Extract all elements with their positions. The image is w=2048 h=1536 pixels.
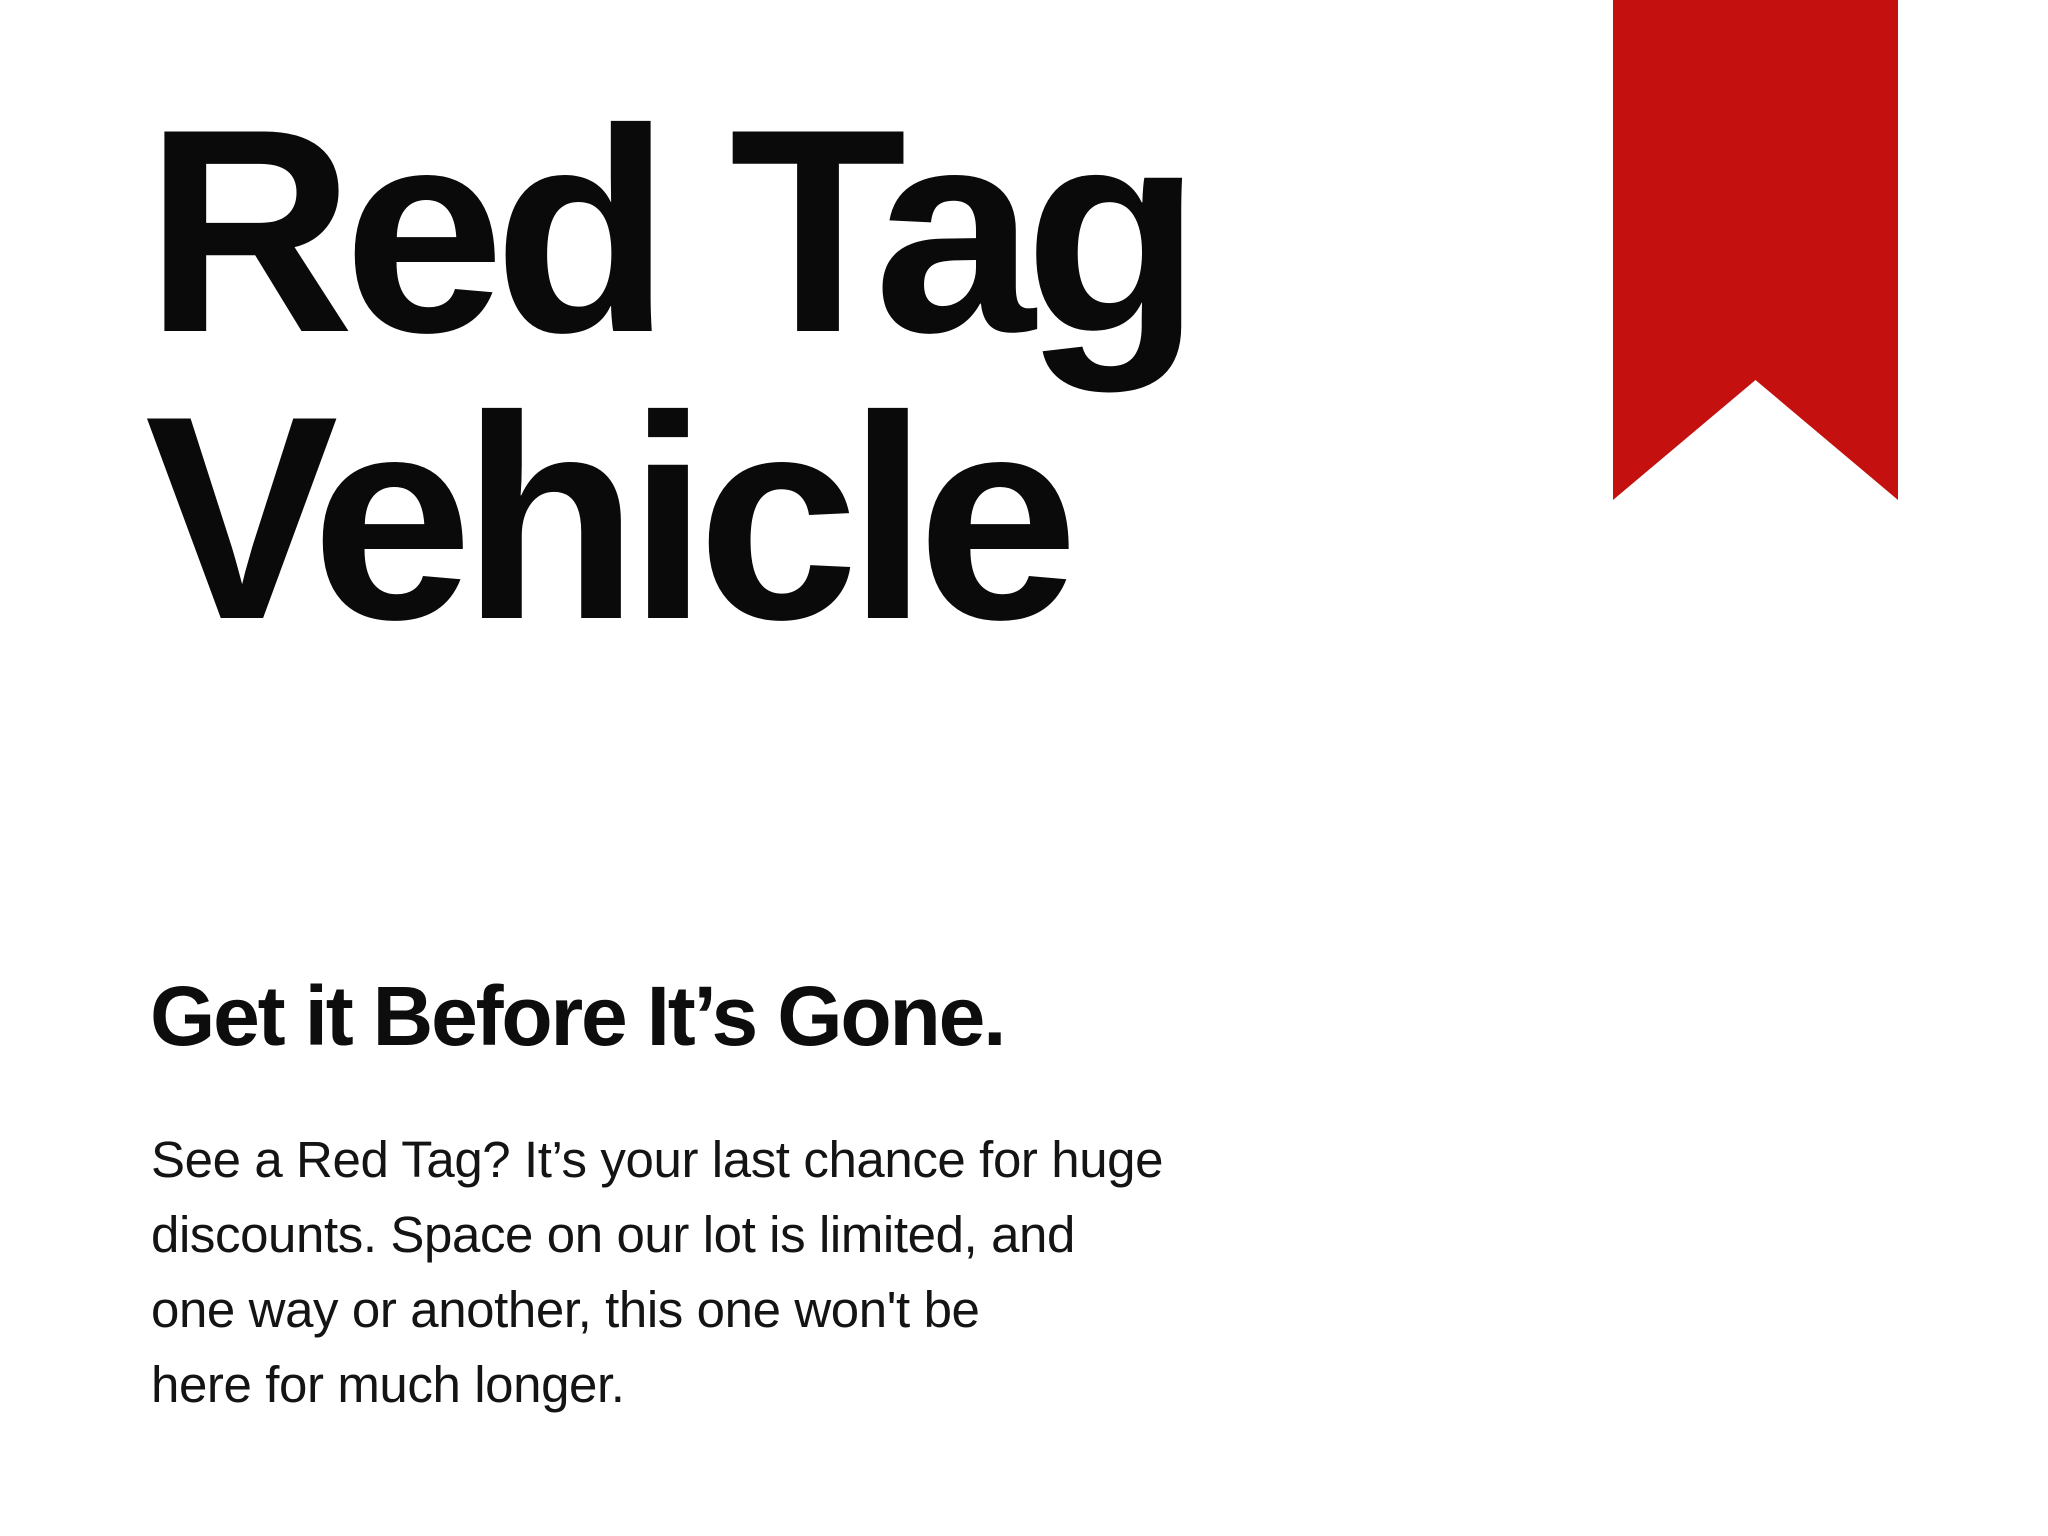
red-tag-ribbon-icon — [1613, 0, 1898, 500]
page-title: Red Tag Vehicle — [145, 88, 1445, 662]
red-tag-promo-poster: Red Tag Vehicle Get it Before It’s Gone.… — [0, 0, 2048, 1536]
promo-body-text: See a Red Tag? It’s your last chance for… — [151, 1122, 1351, 1422]
promo-subheading: Get it Before It’s Gone. — [150, 972, 1004, 1060]
